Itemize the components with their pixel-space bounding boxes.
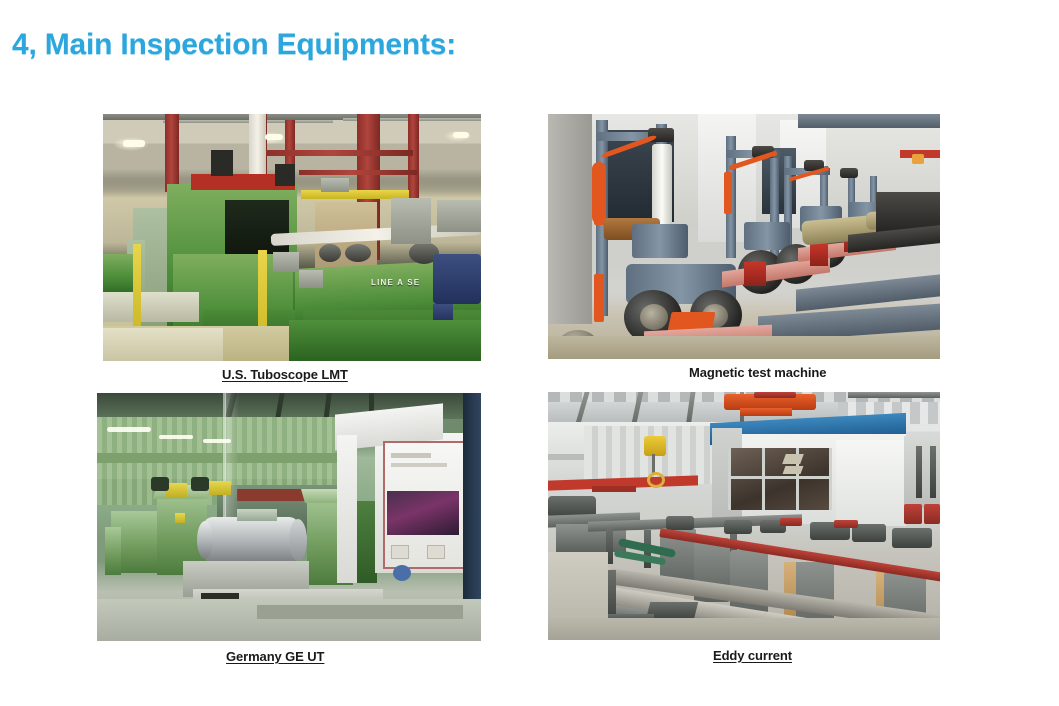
photo-germany-ge-ut[interactable] xyxy=(97,393,481,641)
figure-eddy: Eddy current xyxy=(548,392,940,667)
caption-eddy-current: Eddy current xyxy=(713,648,792,663)
figure-ge-ut: Germany GE UT xyxy=(97,393,481,668)
photo-overlay-text: LINE A SE xyxy=(371,278,420,287)
photo-us-tuboscope-lmt[interactable]: LINE A SE xyxy=(103,114,481,361)
caption-us-tuboscope-lmt: U.S. Tuboscope LMT xyxy=(222,367,348,382)
figure-magnetic: Magnetic test machine xyxy=(548,114,940,382)
photo-eddy-current[interactable] xyxy=(548,392,940,640)
caption-germany-ge-ut: Germany GE UT xyxy=(226,649,324,664)
figure-tuboscope: LINE A SE U.S. Tuboscope LMT xyxy=(103,114,481,384)
caption-magnetic-test-machine: Magnetic test machine xyxy=(689,365,826,380)
photo-magnetic-test-machine[interactable] xyxy=(548,114,940,359)
page-title: 4, Main Inspection Equipments: xyxy=(12,28,456,62)
